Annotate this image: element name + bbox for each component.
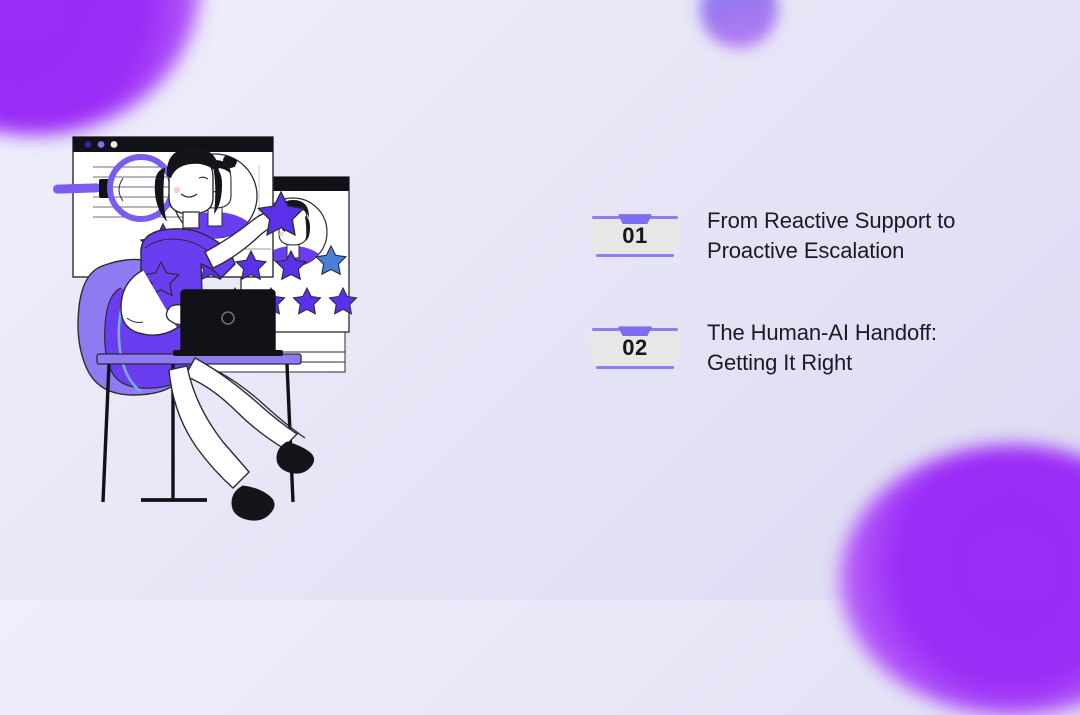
window-dot-1: [85, 141, 92, 148]
agenda-list: 01 From Reactive Support to Proactive Es…: [585, 206, 1005, 379]
bottom-right-purple-blob: [840, 445, 1080, 715]
badge-underline: [596, 366, 674, 369]
agenda-item-title: From Reactive Support to Proactive Escal…: [707, 206, 1005, 266]
badge-underline: [596, 254, 674, 257]
number-badge-01: 01: [585, 213, 685, 259]
agenda-item-2[interactable]: 02 The Human-AI Handoff: Getting It Righ…: [585, 318, 1005, 378]
agenda-item-title: The Human-AI Handoff: Getting It Right: [707, 318, 1005, 378]
badge-number-text: 01: [585, 223, 685, 249]
agenda-item-1[interactable]: 01 From Reactive Support to Proactive Es…: [585, 206, 1005, 266]
top-center-gradient-circle: [700, 0, 778, 48]
number-badge-02: 02: [585, 325, 685, 371]
woman-at-desk-illustration: [75, 120, 545, 520]
top-left-purple-blob: [0, 0, 200, 135]
badge-number-text: 02: [585, 335, 685, 361]
laptop: [173, 290, 283, 356]
window-dot-3: [111, 141, 118, 148]
window-dot-2: [98, 141, 105, 148]
